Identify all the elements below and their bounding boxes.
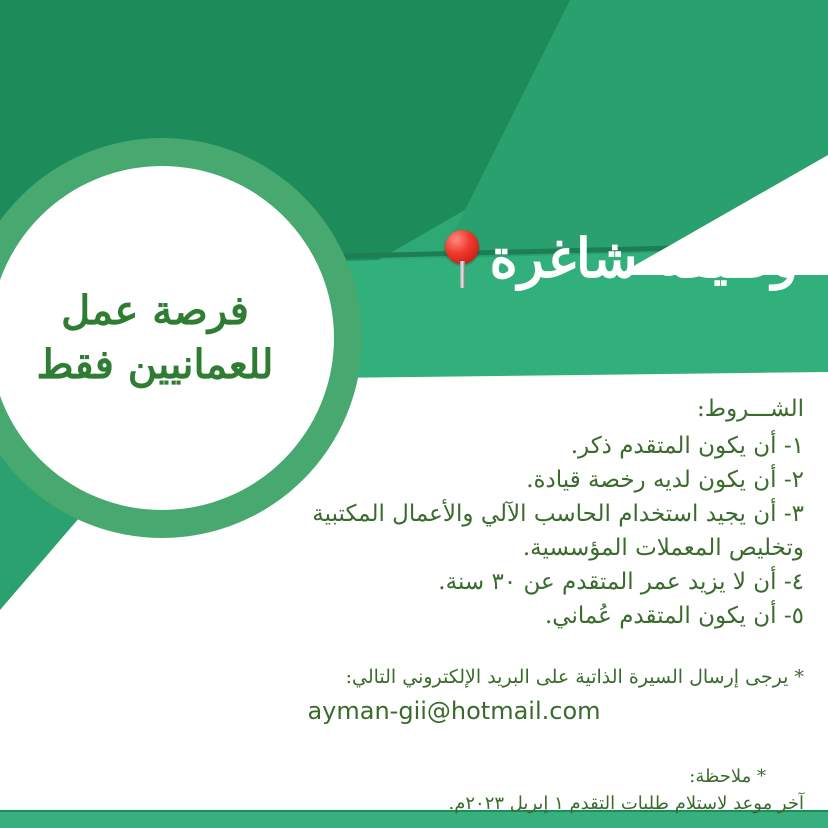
email-instruction: * يرجى إرسال السيرة الذاتية على البريد ا…: [164, 663, 804, 692]
conditions-title: الشـــروط:: [164, 392, 804, 427]
poster-body: الشـــروط: ١- أن يكون المتقدم ذكر. ٢- أن…: [164, 392, 804, 817]
job-vacancy-poster: فرصة عمل للعمانيين فقط وظيفة شاغرة الشــ…: [0, 0, 828, 828]
spacer: [164, 729, 804, 763]
email-address[interactable]: ayman-gii@hotmail.com: [164, 693, 744, 729]
pushpin-icon: [444, 228, 480, 288]
pushpin-head: [445, 230, 479, 264]
condition-item: ٥- أن يكون المتقدم عُماني.: [164, 599, 804, 633]
conditions-list: ١- أن يكون المتقدم ذكر. ٢- أن يكون لديه …: [164, 429, 804, 633]
badge-text-block: فرصة عمل للعمانيين فقط: [5, 284, 319, 392]
spacer: [164, 633, 804, 663]
headline: وظيفة شاغرة: [444, 228, 798, 288]
condition-item-continued: وتخليص المعملات المؤسسية.: [164, 531, 804, 565]
badge-line-2: للعمانيين فقط: [5, 338, 305, 392]
condition-item: ٤- أن لا يزيد عمر المتقدم عن ٣٠ سنة.: [164, 565, 804, 599]
condition-item: ١- أن يكون المتقدم ذكر.: [164, 429, 804, 463]
badge-line-1: فرصة عمل: [5, 284, 305, 338]
condition-item: ٣- أن يجيد استخدام الحاسب الآلي والأعمال…: [164, 497, 804, 531]
headline-text: وظيفة شاغرة: [490, 231, 798, 285]
footer-deadline: آخر موعد لاستلام طلبات التقدم ١ إبريل ٢٠…: [164, 790, 804, 817]
pushpin-needle: [460, 261, 465, 288]
condition-item: ٢- أن يكون لديه رخصة قيادة.: [164, 463, 804, 497]
footer-note-label: * ملاحظة:: [164, 763, 804, 790]
